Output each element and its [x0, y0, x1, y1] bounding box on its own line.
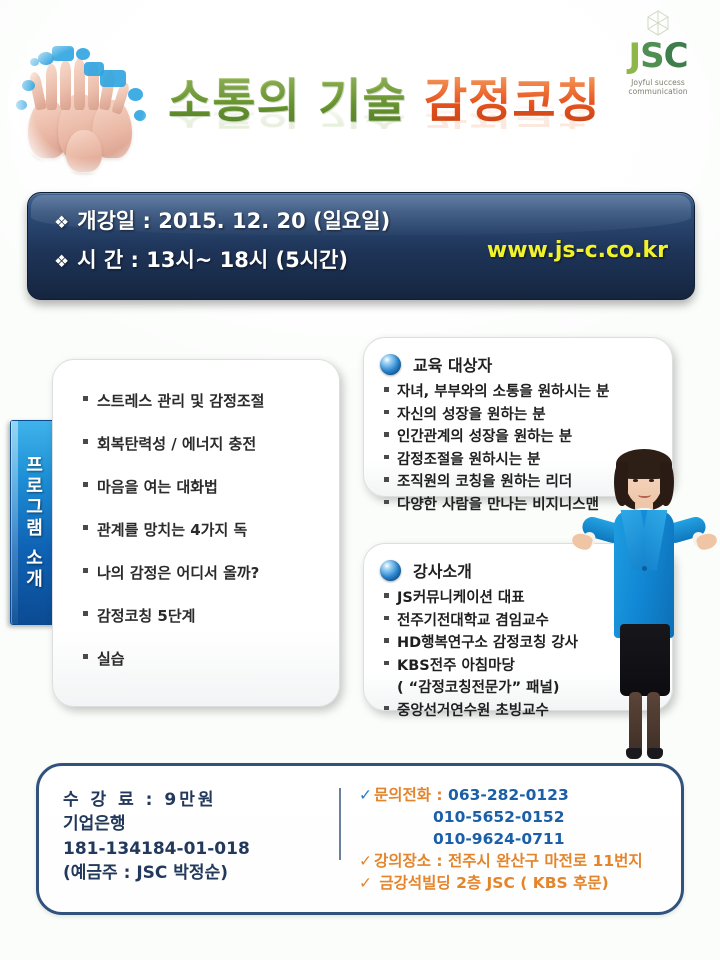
contact-venue-address: 전주시 완산구 마전로 11번지 — [448, 852, 643, 870]
program-section-tab: 프로그램 소개 — [10, 420, 55, 625]
lecturer-photo-woman-blue-blazer — [570, 448, 718, 770]
contact-venue-line-2: ✓ 금강석빌딩 2층 JSC ( KBS 후문) — [359, 872, 669, 894]
list-item: 감정코칭 5단계 — [83, 605, 339, 626]
contact-venue-building: 금강석빌딩 2층 JSC ( KBS 후문) — [374, 874, 609, 892]
bank-name-line: 기업은행 — [63, 812, 333, 836]
list-item: 마음을 여는 대화법 — [83, 476, 339, 497]
fee-column: 수 강 료 : 9만원 기업은행 181-134184-01-018 (예금주 … — [63, 788, 333, 886]
contact-column: ✓문의전화 : 063-282-0123 010-5652-0152 010-9… — [359, 784, 669, 894]
jsc-logo: JSC Joyful success communication — [604, 8, 712, 96]
diamond-bullet-icon: ❖ — [54, 213, 69, 233]
contact-phone-2: 010-5652-0152 — [359, 808, 565, 826]
blue-sphere-bullet-icon — [380, 560, 401, 581]
list-item: 자녀, 부부와의 소통을 원하시는 분 — [384, 380, 672, 401]
lecturer-card-title: 강사소개 — [413, 558, 472, 582]
schedule-time-line: ❖시 간 : 13시~ 18시 (5시간) — [54, 250, 390, 271]
contact-venue-line: ✓강의장소 : 전주시 완산구 마전로 11번지 — [359, 850, 669, 872]
fee-and-contact-box: 수 강 료 : 9만원 기업은행 181-134184-01-018 (예금주 … — [36, 763, 684, 915]
page-title: 소통의 기술 감정코칭 소통의 기술 감정코칭 — [168, 78, 588, 178]
account-holder-line: (예금주 : JSC 박정순) — [63, 861, 333, 885]
audience-card-header: 교육 대상자 — [380, 352, 672, 376]
hands-with-speech-bubbles-icon — [8, 38, 168, 173]
vertical-divider — [339, 788, 341, 860]
program-section-tab-label: 프로그램 소개 — [11, 421, 54, 624]
list-item: 회복탄력성 / 에너지 충전 — [83, 433, 339, 454]
contact-phone-line-2: 010-5652-0152 — [359, 806, 669, 828]
schedule-start-date-text: 개강일 : 2015. 12. 20 (일요일) — [77, 209, 390, 233]
program-list: 스트레스 관리 및 감정조절 회복탄력성 / 에너지 충전 마음을 여는 대화법… — [83, 390, 339, 669]
check-icon: ✓ — [359, 874, 372, 892]
schedule-start-date-line: ❖개강일 : 2015. 12. 20 (일요일) — [54, 211, 390, 232]
check-icon: ✓ — [359, 786, 372, 804]
logo-letter-j: J — [628, 36, 640, 76]
poster-root: 소통의 기술 감정코칭 소통의 기술 감정코칭 JSC Joyful succe — [0, 0, 720, 960]
check-icon: ✓ — [359, 852, 372, 870]
diamond-bullet-icon: ❖ — [54, 252, 69, 272]
list-item: 실습 — [83, 648, 339, 669]
audience-card-title: 교육 대상자 — [413, 352, 492, 376]
bank-account-line: 181-134184-01-018 — [63, 837, 333, 861]
hexagon-flower-icon — [604, 8, 712, 38]
blue-sphere-bullet-icon — [380, 354, 401, 375]
list-item: 자신의 성장을 원하는 분 — [384, 403, 672, 424]
contact-phone-3: 010-9624-0711 — [359, 830, 565, 848]
contact-phone-1: 063-282-0123 — [448, 786, 569, 804]
schedule-time-text: 시 간 : 13시~ 18시 (5시간) — [77, 248, 348, 272]
logo-tagline: Joyful success communication — [604, 78, 712, 96]
list-item: 인간관계의 성장을 원하는 분 — [384, 425, 672, 446]
logo-letter-c: C — [664, 36, 688, 76]
poster-header: 소통의 기술 감정코칭 소통의 기술 감정코칭 JSC Joyful succe — [0, 0, 720, 185]
contact-phone-line-3: 010-9624-0711 — [359, 828, 669, 850]
contact-venue-label: 강의장소 : — [374, 852, 448, 870]
schedule-info-bar: ❖개강일 : 2015. 12. 20 (일요일) ❖시 간 : 13시~ 18… — [27, 192, 695, 300]
contact-phone-line-1: ✓문의전화 : 063-282-0123 — [359, 784, 669, 806]
list-item: 나의 감정은 어디서 올까? — [83, 562, 339, 583]
contact-phone-label: 문의전화 : — [374, 786, 448, 804]
list-item: 스트레스 관리 및 감정조절 — [83, 390, 339, 411]
logo-letter-s: S — [640, 36, 664, 76]
website-url-link[interactable]: www.js-c.co.kr — [487, 238, 668, 263]
fee-amount-line: 수 강 료 : 9만원 — [63, 788, 333, 812]
program-card: 스트레스 관리 및 감정조절 회복탄력성 / 에너지 충전 마음을 여는 대화법… — [52, 359, 340, 707]
title-reflection: 소통의 기술 감정코칭 — [168, 100, 588, 129]
list-item: 관계를 망치는 4가지 독 — [83, 519, 339, 540]
